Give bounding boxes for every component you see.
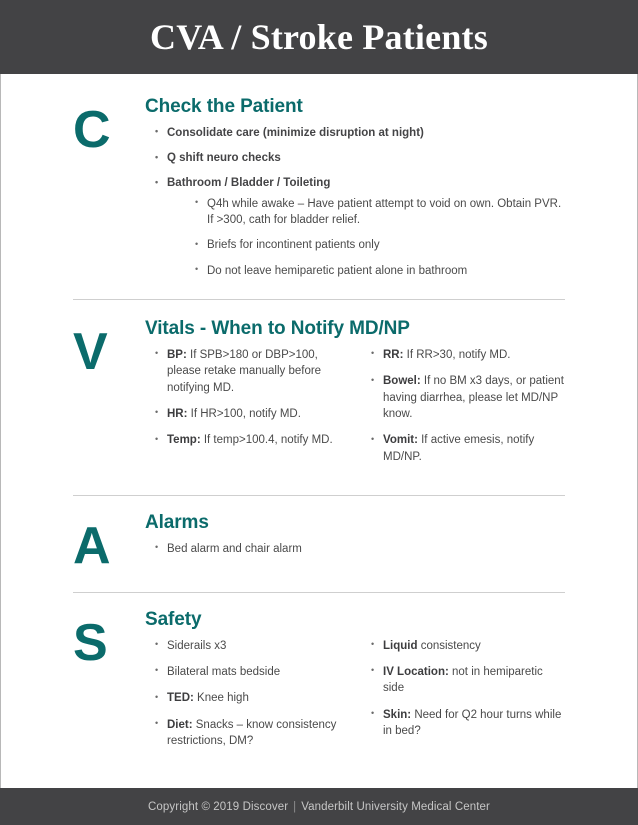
- list-item-lead: Liquid: [383, 640, 418, 652]
- list-item-text: If RR>30, notify MD.: [403, 349, 510, 361]
- list-item-lead: Diet:: [167, 719, 193, 731]
- list-item-text: Knee high: [194, 692, 249, 704]
- section-vitals: V Vitals - When to Notify MD/NP BP: If S…: [1, 300, 637, 495]
- section-body-v: Vitals - When to Notify MD/NP BP: If SPB…: [145, 318, 565, 475]
- list-item-label: Bathroom / Bladder / Toileting: [167, 177, 330, 189]
- list-item-lead: TED:: [167, 692, 194, 704]
- list-item: Briefs for incontinent patients only: [195, 237, 565, 253]
- bullet-list-s-left: Siderails x3 Bilateral mats bedside TED:…: [155, 638, 349, 750]
- list-item: Q4h while awake – Have patient attempt t…: [195, 196, 565, 229]
- list-item: Temp: If temp>100.4, notify MD.: [155, 432, 349, 448]
- column-right-s: Liquid consistency IV Location: not in h…: [371, 638, 565, 760]
- bullet-list-a: Bed alarm and chair alarm: [145, 541, 565, 557]
- list-item: Q shift neuro checks: [155, 150, 565, 166]
- list-item: Liquid consistency: [371, 638, 565, 654]
- list-item: TED: Knee high: [155, 690, 349, 706]
- list-item-text: If SPB>180 or DBP>100, please retake man…: [167, 349, 321, 394]
- section-letter-a: A: [73, 512, 145, 572]
- list-item-lead: Temp:: [167, 434, 201, 446]
- bullet-list-v-left: BP: If SPB>180 or DBP>100, please retake…: [155, 347, 349, 449]
- footer-organization: Vanderbilt University Medical Center: [301, 801, 490, 813]
- list-item-text: consistency: [418, 640, 481, 652]
- list-item-text: Bilateral mats bedside: [167, 666, 280, 678]
- document-content: C Check the Patient Consolidate care (mi…: [1, 74, 637, 788]
- footer-copyright: Copyright © 2019 Discover|Vanderbilt Uni…: [148, 801, 490, 813]
- two-column-group-v: BP: If SPB>180 or DBP>100, please retake…: [145, 347, 565, 475]
- footer-copyright-text: Copyright © 2019 Discover: [148, 801, 288, 813]
- list-item-lead: IV Location:: [383, 666, 449, 678]
- section-heading-safety: Safety: [145, 609, 565, 632]
- two-column-group-s: Siderails x3 Bilateral mats bedside TED:…: [145, 638, 565, 760]
- list-item-text: Siderails x3: [167, 640, 226, 652]
- section-letter-c: C: [73, 96, 145, 156]
- list-item: Bathroom / Bladder / Toileting Q4h while…: [155, 175, 565, 279]
- section-heading-check-the-patient: Check the Patient: [145, 96, 565, 119]
- list-item: Bowel: If no BM x3 days, or patient havi…: [371, 373, 565, 422]
- page-title: CVA / Stroke Patients: [150, 19, 488, 55]
- list-item-lead: Skin:: [383, 709, 411, 721]
- document-page: CVA / Stroke Patients C Check the Patien…: [0, 0, 638, 825]
- bullet-list-v-right: RR: If RR>30, notify MD. Bowel: If no BM…: [371, 347, 565, 465]
- section-body-c: Check the Patient Consolidate care (mini…: [145, 96, 565, 279]
- list-item: RR: If RR>30, notify MD.: [371, 347, 565, 363]
- list-item: Bed alarm and chair alarm: [155, 541, 565, 557]
- document-header: CVA / Stroke Patients: [0, 0, 638, 74]
- list-item: BP: If SPB>180 or DBP>100, please retake…: [155, 347, 349, 396]
- list-item-lead: RR:: [383, 349, 403, 361]
- bullet-sublist-c-toileting: Q4h while awake – Have patient attempt t…: [167, 196, 565, 279]
- footer-separator: |: [293, 801, 296, 813]
- section-body-a: Alarms Bed alarm and chair alarm: [145, 512, 565, 557]
- section-heading-vitals: Vitals - When to Notify MD/NP: [145, 318, 565, 341]
- section-letter-v: V: [73, 318, 145, 378]
- list-item: IV Location: not in hemiparetic side: [371, 664, 565, 697]
- column-right-v: RR: If RR>30, notify MD. Bowel: If no BM…: [371, 347, 565, 475]
- list-item: Siderails x3: [155, 638, 349, 654]
- column-left-s: Siderails x3 Bilateral mats bedside TED:…: [155, 638, 349, 760]
- list-item-lead: BP:: [167, 349, 187, 361]
- list-item: Skin: Need for Q2 hour turns while in be…: [371, 707, 565, 740]
- list-item-lead: Bowel:: [383, 375, 421, 387]
- section-heading-alarms: Alarms: [145, 512, 565, 535]
- section-alarms: A Alarms Bed alarm and chair alarm: [1, 496, 637, 592]
- list-item: Vomit: If active emesis, notify MD/NP.: [371, 432, 565, 465]
- bullet-list-s-right: Liquid consistency IV Location: not in h…: [371, 638, 565, 740]
- list-item-text: Snacks – know consistency restrictions, …: [167, 719, 336, 747]
- section-body-s: Safety Siderails x3 Bilateral mats bedsi…: [145, 609, 565, 759]
- section-safety: S Safety Siderails x3 Bilateral mats bed…: [1, 593, 637, 779]
- section-letter-s: S: [73, 609, 145, 669]
- list-item: Diet: Snacks – know consistency restrict…: [155, 717, 349, 750]
- document-footer: Copyright © 2019 Discover|Vanderbilt Uni…: [0, 788, 638, 825]
- list-item: Do not leave hemiparetic patient alone i…: [195, 263, 565, 279]
- list-item: HR: If HR>100, notify MD.: [155, 406, 349, 422]
- list-item: Consolidate care (minimize disruption at…: [155, 125, 565, 141]
- list-item-lead: Vomit:: [383, 434, 418, 446]
- column-left-v: BP: If SPB>180 or DBP>100, please retake…: [155, 347, 349, 475]
- list-item: Bilateral mats bedside: [155, 664, 349, 680]
- list-item-text: If HR>100, notify MD.: [187, 408, 300, 420]
- list-item-text: If temp>100.4, notify MD.: [201, 434, 333, 446]
- section-check-the-patient: C Check the Patient Consolidate care (mi…: [1, 74, 637, 299]
- bullet-list-c: Consolidate care (minimize disruption at…: [145, 125, 565, 279]
- list-item-lead: HR:: [167, 408, 187, 420]
